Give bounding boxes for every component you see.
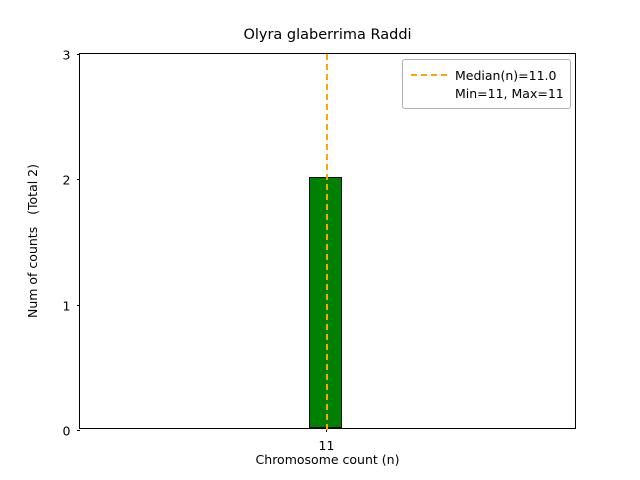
ytick-label-1: 1 (63, 298, 71, 313)
chart-figure: Olyra glaberrima Raddi 0 1 2 3 11 (0, 0, 640, 480)
ytick-mark-2: 2 (77, 179, 81, 180)
chart-title: Olyra glaberrima Raddi (79, 28, 576, 43)
plot-area: 0 1 2 3 11 (79, 53, 576, 429)
legend-label-median: Median(n)=11.0 (455, 68, 556, 83)
xtick-label-11: 11 (319, 438, 335, 453)
legend-entry-minmax: Min=11, Max=11 (411, 84, 562, 102)
median-line (326, 54, 328, 430)
y-axis-label: Num of counts (Total 2) (22, 53, 44, 429)
legend-entry-median: Median(n)=11.0 (411, 66, 562, 84)
chart-legend: Median(n)=11.0 Min=11, Max=11 (402, 59, 571, 109)
ytick-label-2: 2 (63, 173, 71, 188)
ytick-label-0: 0 (63, 424, 71, 439)
dashed-line-icon (411, 74, 447, 76)
ytick-mark-0: 0 (77, 430, 81, 431)
x-axis-label: Chromosome count (n) (79, 452, 576, 467)
ytick-mark-3: 3 (77, 54, 81, 55)
ytick-label-3: 3 (63, 48, 71, 63)
ytick-mark-1: 1 (77, 305, 81, 306)
plot-inner: 0 1 2 3 11 (80, 54, 575, 428)
legend-label-minmax: Min=11, Max=11 (455, 86, 564, 101)
